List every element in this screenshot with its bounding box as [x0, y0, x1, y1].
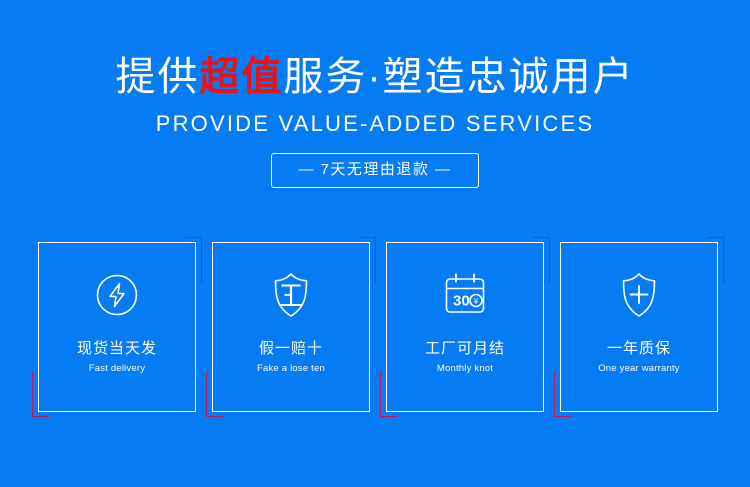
card-label-en: Monthly knot — [437, 363, 493, 375]
title-segment-2: 服务·塑造忠诚用户 — [283, 55, 634, 99]
corner-accent-bottom-left — [554, 371, 571, 417]
shield-plus-icon — [615, 269, 663, 321]
page-subtitle: PROVIDE VALUE-ADDED SERVICES — [0, 111, 750, 137]
corner-accent-bottom-left — [32, 371, 49, 417]
card-label-en: One year warranty — [598, 363, 680, 375]
calendar-30-yuan-icon: 30 ¥ — [438, 269, 492, 321]
shield-zheng-icon — [267, 269, 315, 321]
calendar-currency-symbol: ¥ — [473, 297, 479, 306]
card-label-en: Fast delivery — [89, 363, 145, 375]
card-label-cn: 现货当天发 — [77, 339, 157, 358]
card-label-cn: 假一赔十 — [259, 339, 323, 358]
corner-accent-top-right — [185, 237, 202, 283]
corner-accent-top-right — [707, 237, 724, 283]
title-segment-1: 提供 — [115, 55, 199, 99]
corner-accent-top-right — [533, 237, 550, 283]
corner-accent-bottom-left — [380, 371, 397, 417]
calendar-day-number: 30 — [453, 293, 470, 310]
card-label-cn: 一年质保 — [607, 339, 671, 358]
card-label-cn: 工厂可月结 — [425, 339, 505, 358]
lightning-bolt-circle-icon — [92, 269, 142, 321]
badge-container: — 7天无理由退款 — — [0, 153, 750, 188]
card-label-en: Fake a lose ten — [257, 363, 325, 375]
page-title: 提供超值服务·塑造忠诚用户 — [0, 52, 750, 102]
feature-card-monthly-settlement[interactable]: 30 ¥ 工厂可月结 Monthly knot — [386, 242, 544, 412]
corner-accent-top-right — [359, 237, 376, 283]
refund-policy-badge: — 7天无理由退款 — — [271, 153, 478, 188]
feature-card-fast-delivery[interactable]: 现货当天发 Fast delivery — [38, 242, 196, 412]
corner-accent-bottom-left — [206, 371, 223, 417]
feature-card-list: 现货当天发 Fast delivery 假一赔十 Fake a los — [38, 242, 718, 412]
banner-header: 提供超值服务·塑造忠诚用户 PROVIDE VALUE-ADDED SERVIC… — [0, 52, 750, 188]
feature-card-authenticity[interactable]: 假一赔十 Fake a lose ten — [212, 242, 370, 412]
title-accent-highlight: 超值 — [199, 55, 283, 99]
promo-banner: 提供超值服务·塑造忠诚用户 PROVIDE VALUE-ADDED SERVIC… — [0, 0, 750, 487]
feature-card-warranty[interactable]: 一年质保 One year warranty — [560, 242, 718, 412]
